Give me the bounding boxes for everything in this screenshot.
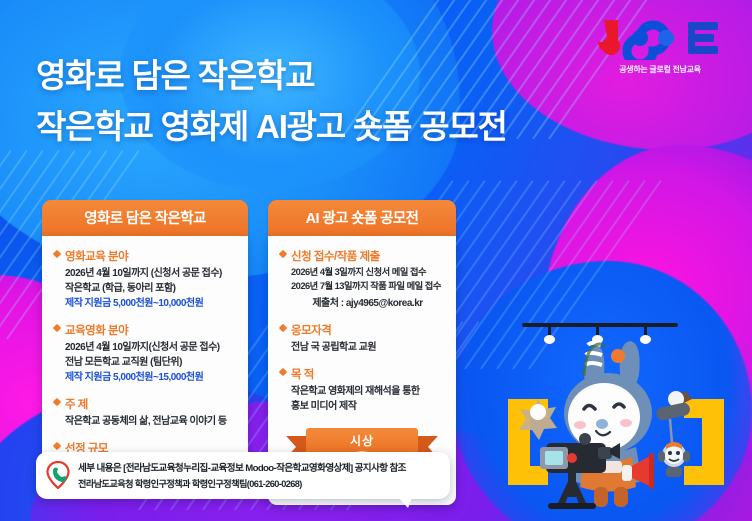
spotlight-icon (519, 399, 557, 440)
headline-line-1: 영화로 담은 작은학교 (36, 58, 507, 95)
group-film-education-field: 영화교육 분야 2026년 4월 10일까지 (신청서 공문 접수) 작은학교 … (54, 248, 236, 311)
group-line: 2026년 4월 10일까지 (신청서 공문 접수) (65, 266, 236, 281)
diamond-bullet-icon (53, 398, 61, 406)
group-title: 영화교육 분야 (54, 248, 236, 264)
group-line: 전남 모든학교 교직원 (팀단위) (65, 355, 236, 370)
notice-tail-icon (399, 498, 412, 508)
notice-line-2: 전라남도교육청 학령인구정책과 학령인구정책팀(061-260-0268) (78, 476, 406, 490)
notice-line-1: 세부 내용은 [전라남도교육청누리집-교육정보 Modoo-작은학교영화영상제]… (78, 460, 406, 474)
group-line: 작은학교 (학급, 동아리 포함) (65, 281, 236, 296)
group-title-text: 목 적 (291, 366, 314, 382)
group-line: 2026년 4월 10일까지(신청서 공문 접수) (65, 340, 236, 355)
group-title-text: 교육영화 분야 (65, 322, 128, 338)
group-line-funding: 제작 지원금 5,000천원~10,000천원 (65, 296, 236, 311)
group-title: 교육영화 분야 (54, 322, 236, 338)
card-header-ai-ad-shortform: AI 광고 숏폼 공모전 (268, 200, 456, 236)
group-title-text: 응모자격 (291, 322, 331, 338)
group-lines: 전남 국 공립학교 교원 (280, 340, 444, 355)
group-line: 작은학교 영화제의 재해석을 통한 (291, 384, 444, 399)
group-purpose: 목 적 작은학교 영화제의 재해석을 통한 홍보 미디어 제작 (280, 366, 444, 414)
group-line: 2026년 4월 3일까지 신청서 메일 접수 (291, 266, 444, 280)
mascot-illustration (480, 321, 752, 521)
diamond-bullet-icon (279, 368, 287, 376)
phone-pin-icon (46, 461, 70, 489)
jcoe-logo: 공생하는 글로컬 전남교육 (586, 16, 734, 75)
group-title: 신청 접수/작품 제출 (280, 248, 444, 264)
diamond-bullet-icon (53, 324, 61, 332)
group-topic: 주 제 작은학교 공동체의 삶, 전남교육 이야기 등 (54, 396, 236, 429)
group-education-film-field: 교육영화 분야 2026년 4월 10일까지(신청서 공문 접수) 전남 모든학… (54, 322, 236, 385)
jcoe-logo-mark (596, 16, 724, 60)
group-eligibility: 응모자격 전남 국 공립학교 교원 (280, 322, 444, 355)
card-film-education: 영화로 담은 작은학교 영화교육 분야 2026년 4월 10일까지 (신청서 … (42, 200, 248, 487)
group-line: 작은학교 공동체의 삶, 전남교육 이야기 등 (65, 414, 236, 429)
group-title: 주 제 (54, 396, 236, 412)
card-header-film-education: 영화로 담은 작은학교 (42, 200, 248, 236)
group-lines: 2026년 4월 10일까지(신청서 공문 접수) 전남 모든학교 교직원 (팀… (54, 340, 236, 385)
group-title: 목 적 (280, 366, 444, 382)
rabbit-mascot (564, 341, 652, 507)
poster-canvas: 공생하는 글로컬 전남교육 영화로 담은 작은학교 작은학교 영화제 AI광고 … (0, 0, 752, 521)
diamond-bullet-icon (53, 442, 61, 450)
card-body-film-education: 영화교육 분야 2026년 4월 10일까지 (신청서 공문 접수) 작은학교 … (42, 236, 248, 487)
group-lines: 작은학교 영화제의 재해석을 통한 홍보 미디어 제작 (280, 384, 444, 414)
notice-bar: 세부 내용은 [전라남도교육청누리집-교육정보 Modoo-작은학교영화영상제]… (36, 452, 450, 499)
group-lines: 작은학교 공동체의 삶, 전남교육 이야기 등 (54, 414, 236, 429)
group-line: 2026년 7월 13일까지 작품 파일 메일 접수 (291, 280, 444, 294)
boom-mic-robot-icon (655, 391, 692, 477)
logo-tagline: 공생하는 글로컬 전남교육 (586, 64, 734, 75)
group-title-text: 신청 접수/작품 제출 (291, 248, 380, 264)
group-title-text: 주 제 (65, 396, 88, 412)
diamond-bullet-icon (53, 250, 61, 258)
group-title-text: 영화교육 분야 (65, 248, 128, 264)
diamond-bullet-icon (279, 250, 287, 258)
group-line: 홍보 미디어 제작 (291, 399, 444, 414)
mascot-character (480, 321, 752, 521)
poster-headline: 영화로 담은 작은학교 작은학교 영화제 AI광고 숏폼 공모전 (36, 58, 507, 146)
group-lines: 2026년 4월 10일까지 (신청서 공문 접수) 작은학교 (학급, 동아리… (54, 266, 236, 311)
group-lines: 2026년 4월 3일까지 신청서 메일 접수 2026년 7월 13일까지 작… (280, 266, 444, 311)
group-line-funding: 제작 지원금 5,000천원~15,000천원 (65, 370, 236, 385)
group-application-submission: 신청 접수/작품 제출 2026년 4월 3일까지 신청서 메일 접수 2026… (280, 248, 444, 311)
notice-text: 세부 내용은 [전라남도교육청누리집-교육정보 Modoo-작은학교영화영상제]… (78, 460, 406, 490)
submission-email: 제출처 : ajy4965@korea.kr (291, 294, 444, 311)
diamond-bullet-icon (279, 324, 287, 332)
group-title: 응모자격 (280, 322, 444, 338)
group-line: 전남 국 공립학교 교원 (291, 340, 444, 355)
headline-line-2: 작은학교 영화제 AI광고 숏폼 공모전 (36, 109, 507, 146)
